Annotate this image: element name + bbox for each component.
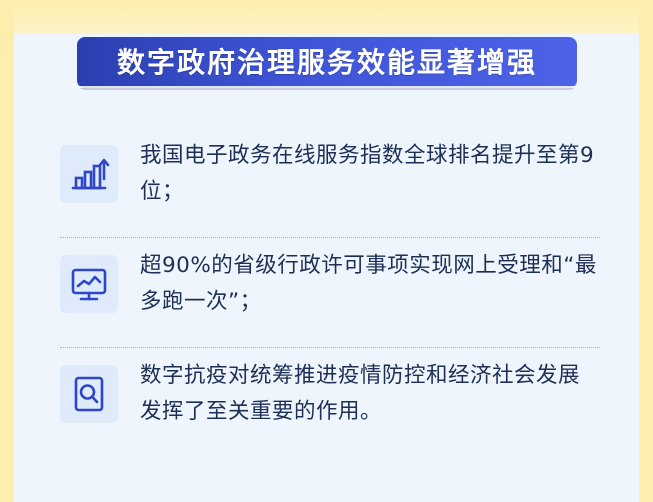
list-item-text: 数字抗疫对统筹推进疫情防控和经济社会发展发挥了至关重要的作用。	[140, 357, 600, 430]
title-ribbon: 数字政府治理服务效能显著增强	[77, 37, 577, 88]
list-item: 我国电子政务在线服务指数全球排名提升至第9位；	[60, 128, 600, 237]
page-title: 数字政府治理服务效能显著增强	[77, 37, 577, 88]
right-yellow-edge	[639, 0, 653, 502]
highlight-list: 我国电子政务在线服务指数全球排名提升至第9位； 超90%的省级行政许可事项实现网…	[60, 128, 600, 457]
bar-chart-growth-icon	[60, 145, 118, 203]
document-magnifier-icon	[60, 365, 118, 423]
poster-canvas: 数字政府治理服务效能显著增强	[0, 0, 653, 502]
icon-tile	[60, 365, 118, 423]
top-yellow-band	[0, 0, 653, 34]
list-item: 数字抗疫对统筹推进疫情防控和经济社会发展发挥了至关重要的作用。	[60, 347, 600, 457]
icon-tile	[60, 255, 118, 313]
list-item: 超90%的省级行政许可事项实现网上受理和“最多跑一次”；	[60, 237, 600, 347]
list-item-text: 我国电子政务在线服务指数全球排名提升至第9位；	[140, 137, 600, 210]
icon-tile	[60, 145, 118, 203]
left-yellow-edge	[0, 0, 14, 502]
list-item-text: 超90%的省级行政许可事项实现网上受理和“最多跑一次”；	[140, 247, 600, 320]
desktop-monitor-chart-icon	[60, 255, 118, 313]
top-yellow-band-gradient	[0, 0, 653, 34]
